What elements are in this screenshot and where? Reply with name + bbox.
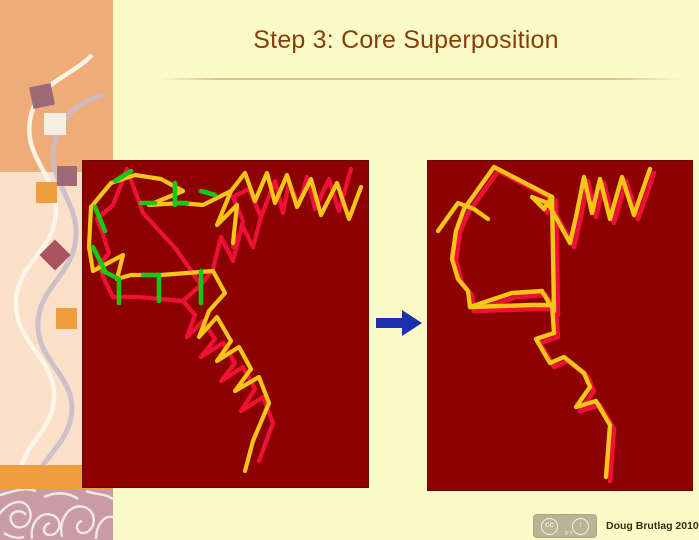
- structure-diagram-before: [83, 161, 368, 487]
- creative-commons-badge[interactable]: cc ↑ BY: [533, 514, 597, 538]
- square-mauve-2: [57, 166, 77, 186]
- cc-icon: cc: [541, 518, 558, 535]
- cc-by-label: BY: [565, 531, 574, 537]
- author-credit: Doug Brutlag 2010: [606, 520, 699, 532]
- core-correspondence-segments: [93, 171, 215, 303]
- after-superposition-panel: [428, 161, 692, 490]
- transform-arrow: [376, 308, 424, 338]
- square-orange-2: [56, 308, 77, 329]
- square-mauve-1: [29, 83, 55, 109]
- title-divider: [158, 78, 680, 80]
- structure-b-trace: [89, 173, 361, 471]
- structure-diagram-after: [428, 161, 692, 490]
- before-superposition-panel: [83, 161, 368, 487]
- footer: cc ↑ BY Doug Brutlag 2010: [533, 514, 699, 538]
- square-orange-1: [36, 182, 57, 203]
- square-cream: [44, 113, 66, 135]
- paisley-pattern: [0, 489, 113, 540]
- slide: Step 3: Core Superposition: [0, 0, 699, 540]
- attribution-icon: ↑: [572, 518, 589, 535]
- page-title: Step 3: Core Superposition: [113, 26, 699, 55]
- sidebar-paisley-band: [0, 489, 113, 540]
